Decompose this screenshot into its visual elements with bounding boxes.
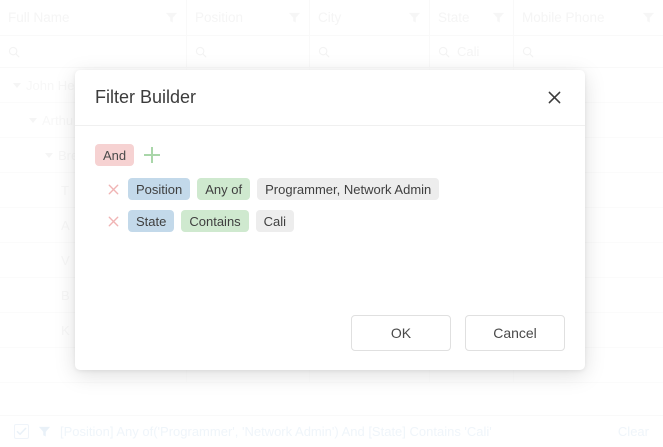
remove-condition-icon[interactable] bbox=[105, 181, 121, 197]
filter-condition-row: PositionAny ofProgrammer, Network Admin bbox=[95, 178, 565, 200]
condition-operator-chip[interactable]: Any of bbox=[197, 178, 250, 200]
ok-button[interactable]: OK bbox=[351, 315, 451, 351]
dialog-title: Filter Builder bbox=[95, 87, 543, 108]
condition-field-chip[interactable]: State bbox=[128, 210, 174, 232]
dialog-body: And PositionAny ofProgrammer, Network Ad… bbox=[75, 126, 585, 296]
filter-conditions-list: PositionAny ofProgrammer, Network AdminS… bbox=[95, 178, 565, 232]
dialog-footer: OK Cancel bbox=[75, 296, 585, 370]
plus-icon[interactable] bbox=[143, 146, 161, 164]
condition-operator-chip[interactable]: Contains bbox=[181, 210, 248, 232]
cancel-button[interactable]: Cancel bbox=[465, 315, 565, 351]
remove-condition-icon[interactable] bbox=[105, 213, 121, 229]
filter-builder-dialog: Filter Builder And PositionAny ofProgram… bbox=[75, 70, 585, 370]
filter-condition-row: StateContainsCali bbox=[95, 210, 565, 232]
filter-group-row: And bbox=[95, 144, 565, 166]
close-icon[interactable] bbox=[543, 87, 565, 109]
condition-value-chip[interactable]: Programmer, Network Admin bbox=[257, 178, 439, 200]
condition-value-chip[interactable]: Cali bbox=[256, 210, 294, 232]
dialog-header: Filter Builder bbox=[75, 70, 585, 126]
group-operator-chip[interactable]: And bbox=[95, 144, 134, 166]
condition-field-chip[interactable]: Position bbox=[128, 178, 190, 200]
